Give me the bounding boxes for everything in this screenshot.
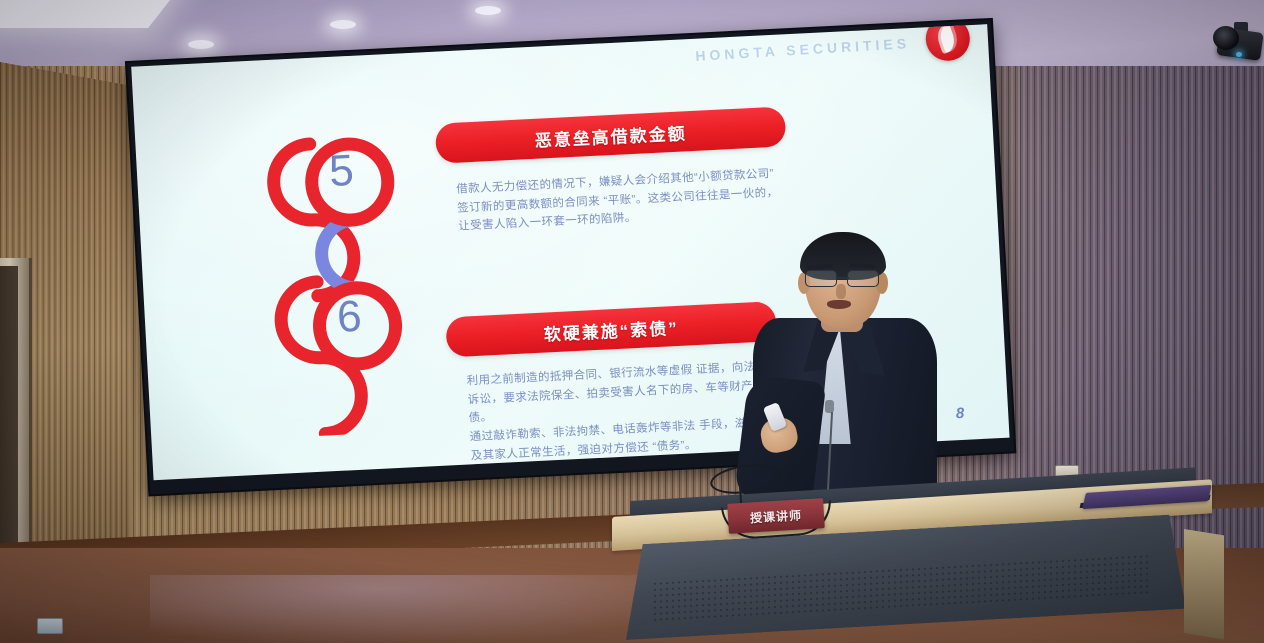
block-6-title: 软硬兼施“索债” bbox=[543, 313, 679, 345]
lapel-microphone-icon bbox=[825, 400, 834, 413]
presenter-nose bbox=[836, 284, 846, 299]
conference-room-scene: HONGTA SECURITIES 5 6 bbox=[0, 0, 1264, 643]
nameplate-text: 授课讲师 bbox=[750, 506, 803, 526]
floor-outlet-box bbox=[37, 618, 63, 634]
instructor-nameplate: 授课讲师 bbox=[727, 498, 825, 534]
ceiling-downlight bbox=[188, 40, 214, 49]
camera-status-led bbox=[1236, 52, 1242, 57]
lectern-podium: 授课讲师 bbox=[612, 495, 1212, 643]
wall-mounted-camera bbox=[1212, 22, 1262, 64]
ceiling-downlight bbox=[475, 6, 501, 15]
ceiling-downlight bbox=[330, 20, 356, 29]
slide-page-number: 8 bbox=[955, 405, 964, 422]
block-number-5: 5 bbox=[328, 146, 355, 197]
ceiling-light-panel bbox=[0, 0, 192, 28]
glasses-bridge bbox=[837, 277, 849, 279]
doorway-opening[interactable] bbox=[0, 266, 18, 584]
presenter-mouth bbox=[827, 300, 851, 309]
glasses-lens-left bbox=[805, 270, 837, 287]
block-5-title: 恶意垒高借款金额 bbox=[534, 119, 687, 152]
logo-feather-shape bbox=[934, 24, 961, 54]
brand-name-text: HONGTA SECURITIES bbox=[695, 35, 911, 64]
block-number-6: 6 bbox=[336, 292, 363, 343]
hongta-securities-logo-icon bbox=[924, 24, 971, 62]
podium-side-panel bbox=[1184, 529, 1224, 639]
glasses-lens-right bbox=[847, 270, 879, 287]
